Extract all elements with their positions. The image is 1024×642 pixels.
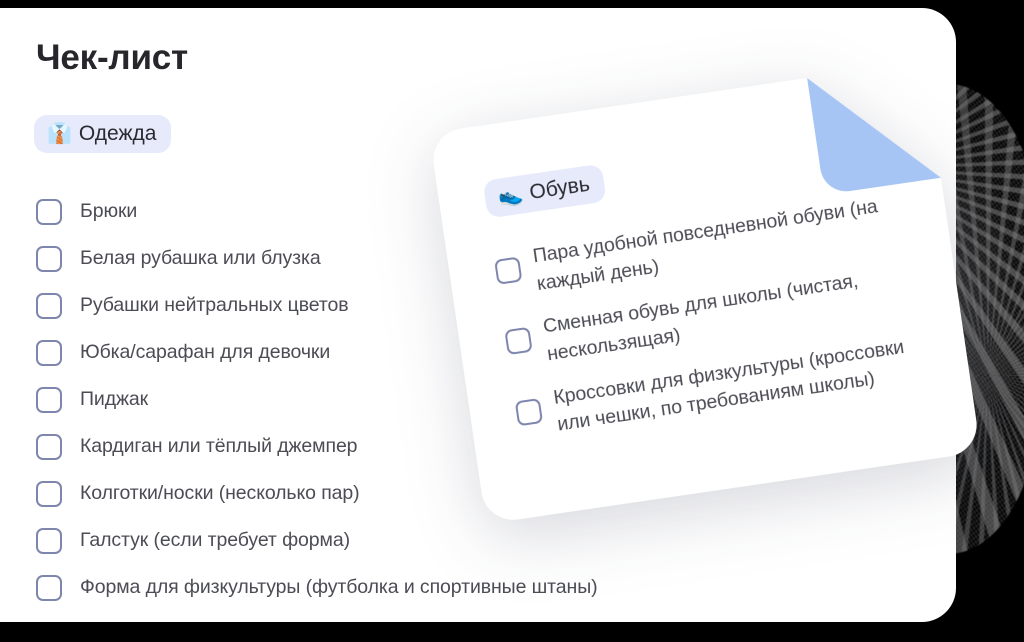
folded-corner-icon (807, 61, 941, 195)
list-item[interactable]: Галстук (если требует форма) (36, 517, 866, 564)
checkbox-icon[interactable] (36, 387, 62, 413)
list-item-label: Белая рубашка или блузка (80, 247, 321, 270)
list-item-label: Пиджак (80, 388, 148, 411)
checkbox-icon[interactable] (504, 327, 532, 355)
list-item-label: Юбка/сарафан для девочки (80, 341, 330, 364)
checkbox-icon[interactable] (36, 293, 62, 319)
list-item-label: Кардиган или тёплый джемпер (80, 435, 357, 458)
category-badge-label: Одежда (79, 123, 157, 144)
screenshot-stage: Чек-лист 👔 Одежда Брюки Белая рубашка ил… (0, 0, 1024, 642)
category-badge-clothing[interactable]: 👔 Одежда (34, 115, 171, 153)
checkbox-icon[interactable] (36, 528, 62, 554)
checkbox-icon[interactable] (36, 340, 62, 366)
checkbox-icon[interactable] (36, 481, 62, 507)
checkbox-icon[interactable] (36, 434, 62, 460)
list-item-label: Колготки/носки (несколько пар) (80, 482, 360, 505)
sneaker-emoji-icon: 👟 (497, 184, 525, 207)
checkbox-icon[interactable] (494, 256, 522, 284)
list-item-label: Форма для физкультуры (футболка и спорти… (80, 576, 598, 599)
checkbox-icon[interactable] (36, 246, 62, 272)
list-item-label: Рубашки нейтральных цветов (80, 294, 348, 317)
list-item-label: Брюки (80, 200, 137, 223)
checklist-card-shoes: 👟 Обувь Пара удобной повседневной обуви … (429, 61, 981, 524)
checkbox-icon[interactable] (36, 199, 62, 225)
list-item[interactable]: Форма для физкультуры (футболка и спорти… (36, 564, 866, 611)
list-item-label: Галстук (если требует форма) (80, 529, 350, 552)
checkbox-icon[interactable] (515, 398, 543, 426)
checkbox-icon[interactable] (36, 575, 62, 601)
necktie-emoji-icon: 👔 (47, 124, 72, 144)
page-title: Чек-лист (36, 38, 188, 78)
category-badge-label: Обувь (528, 174, 591, 204)
